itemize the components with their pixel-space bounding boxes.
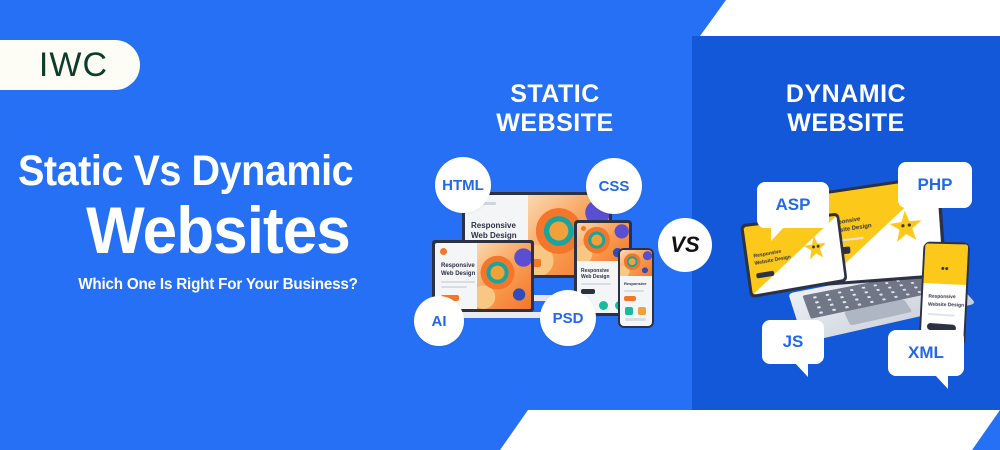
mockup-cta-button	[581, 289, 595, 294]
tag-xml-label: XML	[908, 343, 944, 363]
phone-mockup: Responsive	[618, 248, 654, 328]
mockup-cta-button	[624, 296, 636, 301]
tag-psd-label: PSD	[553, 310, 584, 327]
tag-php-label: PHP	[918, 175, 953, 195]
tag-js-label: JS	[783, 332, 804, 352]
tag-html[interactable]: HTML	[435, 157, 491, 213]
static-title-line2: WEBSITE	[430, 109, 680, 138]
headline-block: Static Vs Dynamic Websites Which One Is …	[18, 150, 418, 294]
tag-php[interactable]: PHP	[898, 162, 972, 208]
dynamic-section-title: DYNAMIC WEBSITE	[700, 80, 992, 138]
mockup-logo-icon	[440, 248, 447, 255]
tag-ai-label: AI	[432, 313, 447, 330]
mockup-logo-icon	[581, 226, 586, 231]
tag-psd[interactable]: PSD	[540, 290, 596, 346]
logo[interactable]: IWC	[0, 40, 140, 90]
mockup-text-line	[581, 283, 611, 285]
mockup-heading-line1: Responsive	[928, 294, 955, 301]
phone-screen: Responsive	[620, 250, 652, 326]
mockup-heading-line2: Web Design	[441, 271, 475, 278]
mockup-text-line	[928, 313, 955, 317]
mockup-heading-line1: Responsive	[441, 263, 475, 270]
dynamic-title-line2: WEBSITE	[700, 109, 992, 138]
headline-line1: Static Vs Dynamic	[18, 150, 386, 193]
mockup-heading-line2: Web Design	[471, 231, 517, 240]
headline-subtitle: Which One Is Right For Your Business?	[28, 276, 408, 294]
tag-ai[interactable]: AI	[414, 296, 464, 346]
mockup-heading-line2: Web Design	[581, 275, 610, 281]
mockup-text-line	[625, 318, 646, 321]
vs-label: VS	[670, 232, 699, 258]
tag-asp[interactable]: ASP	[757, 182, 829, 228]
tag-css-label: CSS	[599, 178, 630, 195]
tag-asp-label: ASP	[776, 195, 811, 215]
mockup-icon-badge	[599, 301, 608, 310]
tag-html-label: HTML	[442, 177, 484, 194]
mockup-heading-line1: Responsive	[471, 221, 516, 230]
vs-badge: VS	[658, 218, 712, 272]
banner-stage: IWC Static Vs Dynamic Websites Which One…	[0, 0, 1000, 450]
static-section-title: STATIC WEBSITE	[430, 80, 680, 138]
tag-js[interactable]: JS	[762, 320, 824, 364]
mockup-text-line	[441, 281, 475, 283]
dynamic-title-line1: DYNAMIC	[700, 80, 992, 109]
mockup-heading-line1: Responsive	[624, 282, 646, 287]
mockup-text-line	[441, 286, 467, 288]
static-title-line1: STATIC	[430, 80, 680, 109]
mockup-heading-line2: Website Design	[928, 302, 964, 309]
illustration-artwork	[620, 250, 652, 276]
illustration-artwork	[477, 243, 531, 309]
headline-line2: Websites	[30, 197, 406, 264]
mockup-icon-badge	[625, 307, 633, 315]
decorative-top-diagonal	[700, 0, 1000, 36]
mockup-text-line	[624, 290, 644, 292]
tag-css[interactable]: CSS	[586, 158, 642, 214]
decorative-bottom-diagonal	[500, 410, 1000, 450]
logo-text: IWC	[39, 46, 108, 85]
tag-xml[interactable]: XML	[888, 330, 964, 376]
mockup-icon-badge	[638, 307, 646, 315]
